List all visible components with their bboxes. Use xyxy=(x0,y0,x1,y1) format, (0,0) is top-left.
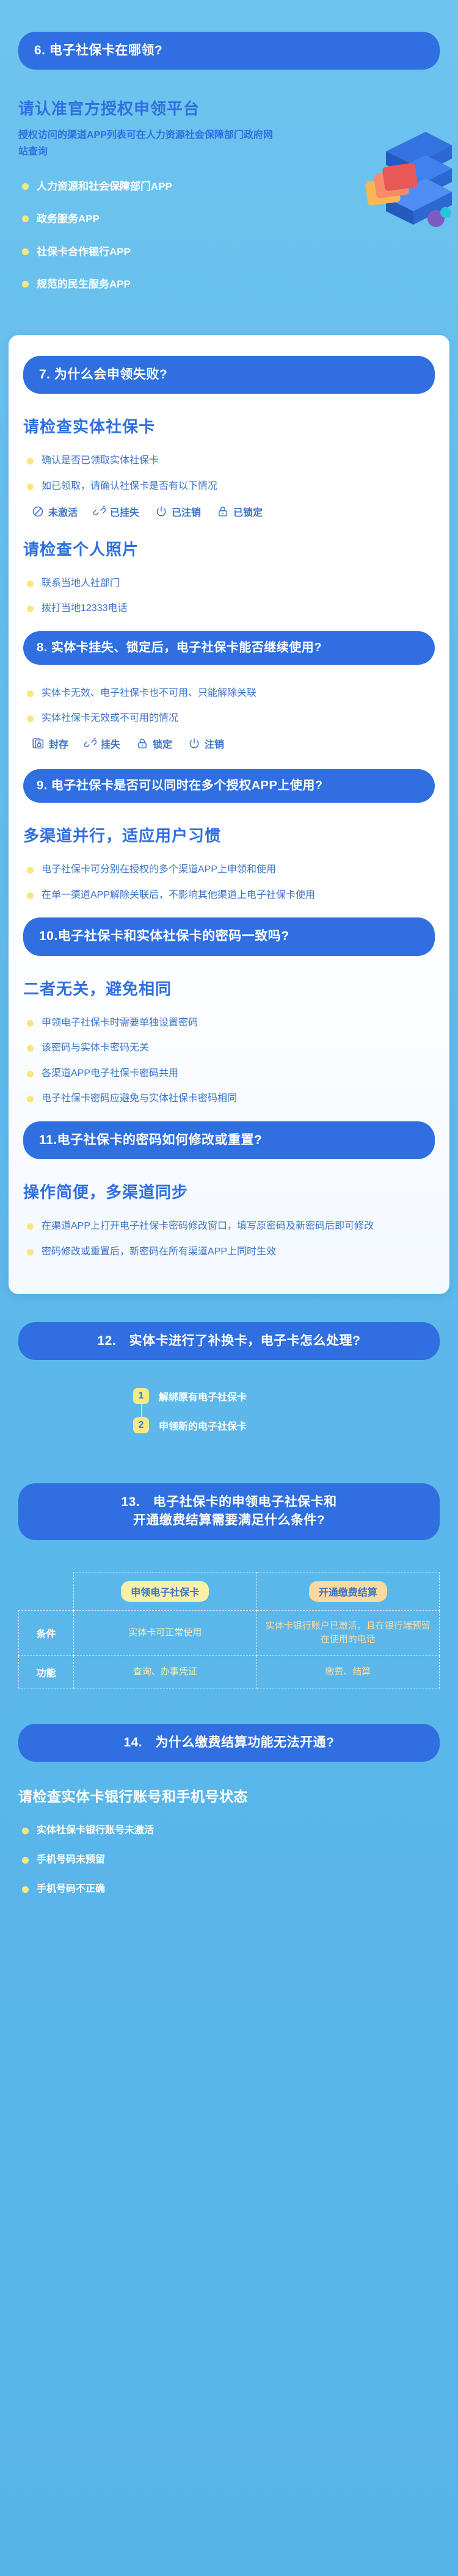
list-item: 实体社保卡无效或不可用的情况 xyxy=(23,711,435,726)
section-7-headline-b: 请检查个人照片 xyxy=(23,537,435,560)
step-connector-arrow xyxy=(141,1404,142,1417)
list-item: 社保卡合作银行APP xyxy=(18,244,440,260)
status-reported-lost: 挂失 xyxy=(84,736,120,751)
list-item: 规范的民生服务APP xyxy=(18,276,440,292)
list-item: 人力资源和社会保障部门APP xyxy=(18,178,440,195)
list-item: 密码修改或重置后，新密码在所有渠道APP上同时生效 xyxy=(23,1244,435,1260)
column-header-pill: 申领电子社保卡 xyxy=(121,1581,209,1602)
archive-lock-icon xyxy=(32,737,45,750)
section-14-list: 实体社保卡银行账号未激活 手机号码未预留 手机号码不正确 xyxy=(18,1823,440,1897)
faq-card-7-to-11: 7. 为什么会申领失败? 请检查实体社保卡 确认是否已领取实体社保卡 如已领取，… xyxy=(9,335,449,1294)
list-item: 如已领取，请确认社保卡是否有以下情况 xyxy=(23,479,435,494)
status-reported-lost: 已挂失 xyxy=(93,504,139,519)
table-row: 条件 实体卡可正常使用 实体卡银行账户已激活，且在银行端预留在使用的电话 xyxy=(19,1610,440,1655)
status-label: 已注销 xyxy=(172,504,201,519)
question-bar-8: 8. 实体卡挂失、锁定后，电子社保卡能否继续使用? xyxy=(23,631,435,665)
no-entry-icon xyxy=(32,505,44,518)
link-broken-icon xyxy=(93,505,106,518)
table-header-settlement: 开通缴费结算 xyxy=(256,1572,440,1610)
lock-icon xyxy=(136,737,148,750)
power-off-icon xyxy=(155,505,167,518)
section-13: 13. 电子社保卡的申领电子社保卡和 开通缴费结算需要满足什么条件? 申领电子社… xyxy=(0,1459,458,1699)
step-number: 1 xyxy=(133,1388,149,1404)
step-item: 2 申领新的电子社保卡 xyxy=(133,1417,440,1433)
power-off-icon xyxy=(188,737,200,750)
list-item: 该密码与实体卡密码无关 xyxy=(23,1040,435,1056)
list-item: 申领电子社保卡时需要单独设置密码 xyxy=(23,1015,435,1031)
list-item: 实体社保卡银行账号未激活 xyxy=(18,1823,440,1839)
infographic-page: 6. 电子社保卡在哪领? 请认准官方授权申领平台 授权访问的渠道APP列表可在人 xyxy=(0,0,458,1944)
status-label: 封存 xyxy=(49,736,68,751)
cell-condition-apply: 实体卡可正常使用 xyxy=(74,1610,257,1655)
question-bar-11: 11.电子社保卡的密码如何修改或重置? xyxy=(23,1121,435,1159)
cell-function-settlement: 缴费、结算 xyxy=(256,1655,440,1688)
step-label: 申领新的电子社保卡 xyxy=(159,1418,247,1433)
question-bar-10: 10.电子社保卡和实体社保卡的密码一致吗? xyxy=(23,917,435,955)
status-locked: 锁定 xyxy=(136,736,172,751)
cell-function-apply: 查询、办事凭证 xyxy=(74,1655,257,1688)
section-7-headline-a: 请检查实体社保卡 xyxy=(23,414,435,437)
status-cancelled: 注销 xyxy=(188,736,224,751)
section-6-headline: 请认准官方授权申领平台 xyxy=(18,96,440,119)
list-item: 手机号码不正确 xyxy=(18,1881,440,1897)
column-header-pill: 开通缴费结算 xyxy=(309,1581,387,1602)
status-cancelled: 已注销 xyxy=(155,504,201,519)
table-corner-cell xyxy=(19,1572,74,1610)
list-item: 联系当地人社部门 xyxy=(23,576,435,592)
question-bar-7: 7. 为什么会申领失败? xyxy=(23,356,435,394)
section-12-steps: 1 解绑原有电子社保卡 2 申领新的电子社保卡 xyxy=(18,1388,440,1433)
status-not-activated: 未激活 xyxy=(32,504,78,519)
section-11-list: 在渠道APP上打开电子社保卡密码修改窗口，填写原密码及新密码后即可修改 密码修改… xyxy=(23,1218,435,1259)
section-12: 12. 实体卡进行了补换卡，电子卡怎么处理? 1 解绑原有电子社保卡 2 申领新… xyxy=(0,1294,458,1459)
list-item: 电子社保卡密码应避免与实体社保卡密码相同 xyxy=(23,1091,435,1107)
section-11-headline: 操作简便，多渠道同步 xyxy=(23,1180,435,1203)
status-archived: 封存 xyxy=(32,736,68,751)
question-bar-12: 12. 实体卡进行了补换卡，电子卡怎么处理? xyxy=(18,1322,440,1360)
cell-condition-settlement: 实体卡银行账户已激活，且在银行端预留在使用的电话 xyxy=(256,1610,440,1655)
status-label: 挂失 xyxy=(101,736,120,751)
status-label: 已锁定 xyxy=(233,504,263,519)
list-item: 在单一渠道APP解除关联后，不影响其他渠道上电子社保卡使用 xyxy=(23,888,435,903)
status-locked: 已锁定 xyxy=(217,504,263,519)
section-8-list: 实体卡无效、电子社保卡也不可用、只能解除关联 实体社保卡无效或不可用的情况 xyxy=(23,686,435,726)
list-item: 拨打当地12333电话 xyxy=(23,601,435,617)
section-9-headline: 多渠道并行，适应用户习惯 xyxy=(23,823,435,846)
row-label-condition: 条件 xyxy=(19,1610,74,1655)
list-item: 确认是否已领取实体社保卡 xyxy=(23,453,435,469)
section-7-status-icons: 未激活 已挂失 已注销 xyxy=(32,504,435,519)
list-item: 在渠道APP上打开电子社保卡密码修改窗口，填写原密码及新密码后即可修改 xyxy=(23,1218,435,1234)
list-item: 各渠道APP电子社保卡密码共用 xyxy=(23,1066,435,1082)
conditions-table: 申领电子社保卡 开通缴费结算 条件 实体卡可正常使用 实体卡银行账户已激活，且在… xyxy=(18,1572,440,1688)
section-8-status-icons: 封存 挂失 锁定 xyxy=(32,736,435,751)
step-item: 1 解绑原有电子社保卡 xyxy=(133,1388,440,1404)
question-line-1: 13. 电子社保卡的申领电子社保卡和 xyxy=(34,1493,424,1511)
table-header-row: 申领电子社保卡 开通缴费结算 xyxy=(19,1572,440,1610)
section-10-list: 申领电子社保卡时需要单独设置密码 该密码与实体卡密码无关 各渠道APP电子社保卡… xyxy=(23,1015,435,1107)
question-bar-9: 9. 电子社保卡是否可以同时在多个授权APP上使用? xyxy=(23,769,435,803)
section-10-headline: 二者无关，避免相同 xyxy=(23,977,435,999)
link-broken-icon xyxy=(84,737,96,750)
section-7-list-b: 联系当地人社部门 拨打当地12333电话 xyxy=(23,576,435,617)
question-line-2: 开通缴费结算需要满足什么条件? xyxy=(34,1511,424,1530)
section-9-list: 电子社保卡可分别在授权的多个渠道APP上申领和使用 在单一渠道APP解除关联后，… xyxy=(23,862,435,903)
question-bar-6: 6. 电子社保卡在哪领? xyxy=(18,32,440,70)
status-label: 未激活 xyxy=(48,504,78,519)
section-14-headline: 请检查实体卡银行账号和手机号状态 xyxy=(18,1785,440,1806)
list-item: 政务服务APP xyxy=(18,211,440,227)
status-label: 锁定 xyxy=(153,736,172,751)
list-item: 手机号码未预留 xyxy=(18,1852,440,1868)
table-row: 功能 查询、办事凭证 缴费、结算 xyxy=(19,1655,440,1688)
status-label: 已挂失 xyxy=(110,504,139,519)
section-6: 6. 电子社保卡在哪领? 请认准官方授权申领平台 授权访问的渠道APP列表可在人 xyxy=(0,0,458,314)
status-label: 注销 xyxy=(205,736,224,751)
row-label-function: 功能 xyxy=(19,1655,74,1688)
section-14: 14. 为什么缴费结算功能无法开通? 请检查实体卡银行账号和手机号状态 实体社保… xyxy=(0,1699,458,1944)
section-7-list-a: 确认是否已领取实体社保卡 如已领取，请确认社保卡是否有以下情况 xyxy=(23,453,435,494)
table-header-apply: 申领电子社保卡 xyxy=(74,1572,257,1610)
question-bar-13: 13. 电子社保卡的申领电子社保卡和 开通缴费结算需要满足什么条件? xyxy=(18,1483,440,1540)
section-6-note: 授权访问的渠道APP列表可在人力资源社会保障部门政府网站查询 xyxy=(18,128,281,160)
step-number: 2 xyxy=(133,1417,149,1433)
question-bar-14: 14. 为什么缴费结算功能无法开通? xyxy=(18,1724,440,1762)
list-item: 电子社保卡可分别在授权的多个渠道APP上申领和使用 xyxy=(23,862,435,878)
step-label: 解绑原有电子社保卡 xyxy=(159,1389,247,1403)
list-item: 实体卡无效、电子社保卡也不可用、只能解除关联 xyxy=(23,686,435,701)
lock-icon xyxy=(217,505,229,518)
